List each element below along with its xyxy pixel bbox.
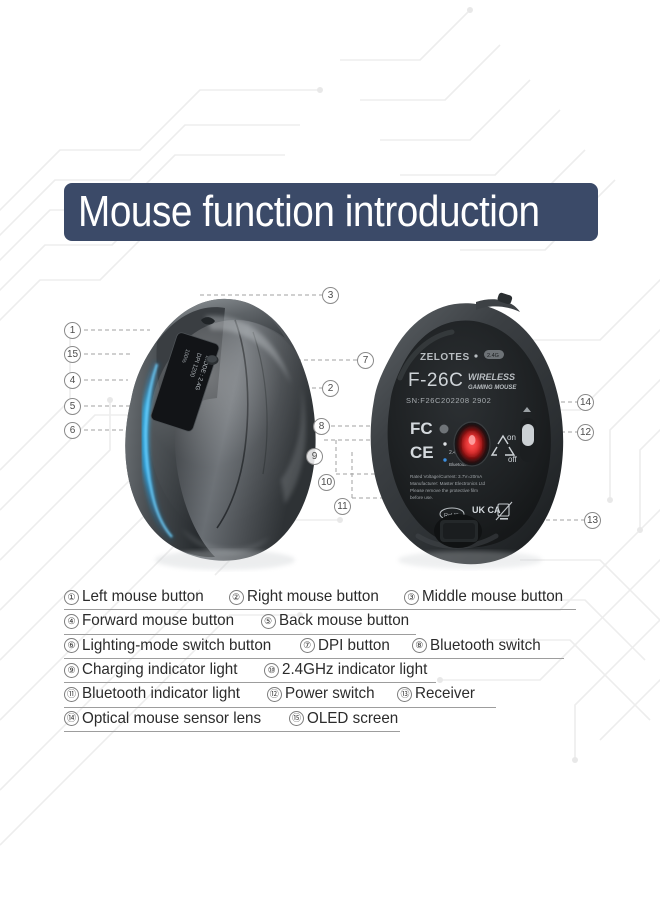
legend-number: ④ xyxy=(64,614,79,629)
legend-number: ⑦ xyxy=(300,638,315,653)
legend-list: ①Left mouse button ②Right mouse button ③… xyxy=(64,586,598,732)
legend-label: Back mouse button xyxy=(279,612,409,630)
legend-row: ⑨Charging indicator light ⑩2.4GHz indica… xyxy=(64,659,598,683)
legend-label: OLED screen xyxy=(307,710,398,728)
legend-label: Lighting-mode switch button xyxy=(82,637,271,655)
legend-item-2: ②Right mouse button xyxy=(229,588,386,606)
callout-7[interactable]: 7 xyxy=(357,352,374,369)
legend-label: 2.4GHz indicator light xyxy=(282,661,427,679)
callout-6[interactable]: 6 xyxy=(64,422,81,439)
legend-number: ⑤ xyxy=(261,614,276,629)
legend-label: DPI button xyxy=(318,637,390,655)
legend-label: Right mouse button xyxy=(247,588,379,606)
legend-label: Left mouse button xyxy=(82,588,204,606)
legend-row: ④Forward mouse button ⑤Back mouse button xyxy=(64,610,598,634)
legend-divider xyxy=(64,731,400,732)
callout-11[interactable]: 11 xyxy=(334,498,351,515)
legend-item-5: ⑤Back mouse button xyxy=(261,612,416,630)
legend-item-8: ⑧Bluetooth switch xyxy=(412,637,547,655)
receiver-compartment xyxy=(434,514,482,548)
callout-9[interactable]: 9 xyxy=(306,448,323,465)
spec-line-2: Manufacturer: Master Electronics Ltd xyxy=(410,481,486,486)
legend-item-12: ⑫Power switch xyxy=(267,685,379,703)
spec-line-3: Please remove the protective film xyxy=(410,488,478,493)
legend-label: Optical mouse sensor lens xyxy=(82,710,261,728)
callout-13[interactable]: 13 xyxy=(584,512,601,529)
page-title: Mouse function introduction xyxy=(78,190,540,234)
legend-item-13: ⑬Receiver xyxy=(397,685,478,703)
product-infographic-page: Mouse function introduction xyxy=(0,0,660,900)
legend-label: Bluetooth switch xyxy=(430,637,541,655)
switch-on-label: on xyxy=(507,433,516,442)
legend-row: ⑭Optical mouse sensor lens ⑮OLED screen xyxy=(64,708,598,732)
callout-15[interactable]: 15 xyxy=(64,346,81,363)
legend-row: ⑪Bluetooth indicator light ⑫Power switch… xyxy=(64,683,598,707)
callout-1[interactable]: 1 xyxy=(64,322,81,339)
callout-10[interactable]: 10 xyxy=(318,474,335,491)
spec-line-1: Rated Voltage/Current: 3.7V=20mA xyxy=(410,474,483,479)
callout-3[interactable]: 3 xyxy=(322,287,339,304)
brand-text: ZELOTES xyxy=(420,352,470,363)
legend-row: ⑥Lighting-mode switch button ⑦DPI button… xyxy=(64,635,598,659)
legend-item-7: ⑦DPI button xyxy=(300,637,394,655)
callout-2[interactable]: 2 xyxy=(322,380,339,397)
serial-text: SN:F26C202208 2902 xyxy=(406,396,491,405)
model-sub-1: WIRELESS xyxy=(468,372,515,382)
legend-number: ⑨ xyxy=(64,663,79,678)
legend-number: ⑩ xyxy=(264,663,279,678)
wifi-badge-text: 2.4G xyxy=(487,353,499,359)
callout-12[interactable]: 12 xyxy=(577,424,594,441)
legend-item-4: ④Forward mouse button xyxy=(64,612,242,630)
legend-number: ⑭ xyxy=(64,711,79,726)
product-illustration-stage: MODE : 2.4G DPI 1200 100% xyxy=(0,280,660,580)
legend-item-11: ⑪Bluetooth indicator light xyxy=(64,685,248,703)
legend-label: Middle mouse button xyxy=(422,588,563,606)
legend-item-3: ③Middle mouse button xyxy=(404,588,571,606)
ce-mark: CE xyxy=(410,443,434,462)
legend-label: Forward mouse button xyxy=(82,612,234,630)
legend-label: Receiver xyxy=(415,685,475,703)
callout-4[interactable]: 4 xyxy=(64,372,81,389)
legend-number: ⑥ xyxy=(64,638,79,653)
fcc-mark: FC xyxy=(410,419,433,438)
callout-8[interactable]: 8 xyxy=(313,418,330,435)
indicator-dot-24g xyxy=(443,442,446,445)
legend-item-15: ⑮OLED screen xyxy=(289,710,403,728)
legend-number: ⑬ xyxy=(397,687,412,702)
legend-number: ② xyxy=(229,590,244,605)
spec-line-4: before use. xyxy=(410,495,433,500)
indicator-dot-bluetooth xyxy=(443,458,446,461)
legend-item-6: ⑥Lighting-mode switch button xyxy=(64,637,281,655)
legend-item-1: ①Left mouse button xyxy=(64,588,210,606)
switch-off-label: off xyxy=(508,455,518,464)
legend-number: ⑧ xyxy=(412,638,427,653)
legend-row: ①Left mouse button ②Right mouse button ③… xyxy=(64,586,598,610)
legend-label: Power switch xyxy=(285,685,375,703)
callout-5[interactable]: 5 xyxy=(64,398,81,415)
callout-14[interactable]: 14 xyxy=(577,394,594,411)
legend-item-9: ⑨Charging indicator light xyxy=(64,661,246,679)
model-text: F-26C xyxy=(408,370,463,391)
legend-label: Charging indicator light xyxy=(82,661,237,679)
legend-number: ① xyxy=(64,590,79,605)
page-title-banner: Mouse function introduction xyxy=(64,183,598,241)
mouse-side-view-image: MODE : 2.4G DPI 1200 100% xyxy=(85,280,385,580)
legend-label: Bluetooth indicator light xyxy=(82,685,240,703)
mouse-bottom-view-image: ZELOTES 2.4G F-26C WIRELESS GAMING MOUSE… xyxy=(348,288,578,578)
charging-indicator-light xyxy=(440,425,449,434)
legend-number: ⑪ xyxy=(64,687,79,702)
optical-sensor-lens xyxy=(454,422,490,466)
legend-number: ⑮ xyxy=(289,711,304,726)
legend-number: ③ xyxy=(404,590,419,605)
legend-item-14: ⑭Optical mouse sensor lens xyxy=(64,710,271,728)
legend-item-10: ⑩2.4GHz indicator light xyxy=(264,661,435,679)
model-sub-2: GAMING MOUSE xyxy=(468,385,517,391)
ukca-mark: UK CA xyxy=(472,505,501,515)
legend-number: ⑫ xyxy=(267,687,282,702)
